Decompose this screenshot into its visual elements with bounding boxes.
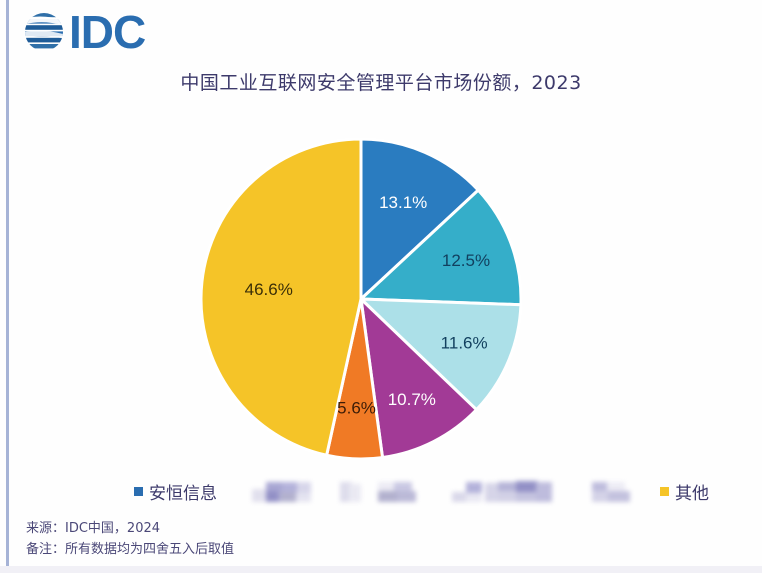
pie-slice-label: 10.7% (388, 390, 436, 409)
footer-notes: 来源：IDC中国，2024 备注：所有数据均为四舍五入后取值 (26, 518, 234, 560)
legend-item-redacted-5 (592, 480, 644, 502)
pie-chart: 13.1%12.5%11.6%10.7%5.6%46.6% (193, 113, 523, 461)
legend-swatch-last (660, 487, 669, 496)
pie-slice-label: 5.6% (337, 399, 376, 418)
pie-slice-label: 12.5% (442, 251, 490, 270)
legend-label-last: 其他 (675, 479, 709, 504)
legend-item-first[interactable]: 安恒信息 (134, 480, 217, 502)
legend-label-first: 安恒信息 (149, 479, 217, 504)
legend-swatch-first (134, 487, 143, 496)
idc-logo: IDC (22, 6, 145, 58)
chart-legend: 安恒信息 (0, 478, 762, 508)
footer-note: 备注：所有数据均为四舍五入后取值 (26, 539, 234, 560)
pie-slice-label: 13.1% (379, 193, 427, 212)
legend-item-last[interactable]: 其他 (660, 480, 709, 502)
legend-item-redacted-1 (252, 480, 324, 502)
bottom-band (0, 566, 762, 573)
pie-slice-label: 11.6% (441, 334, 488, 353)
idc-wordmark: IDC (69, 10, 145, 54)
pie-slice-label: 46.6% (245, 280, 293, 299)
idc-globe-icon (22, 10, 66, 54)
legend-item-redacted-2 (340, 480, 366, 502)
page-title: 中国工业互联网安全管理平台市场份额，2023 (0, 68, 762, 95)
legend-item-redacted-4 (452, 480, 570, 502)
idc-market-share-chart-page: IDC 中国工业互联网安全管理平台市场份额，2023 13.1%12.5%11.… (0, 0, 762, 573)
footer-source: 来源：IDC中国，2024 (26, 518, 234, 539)
legend-item-redacted-3 (378, 480, 434, 502)
